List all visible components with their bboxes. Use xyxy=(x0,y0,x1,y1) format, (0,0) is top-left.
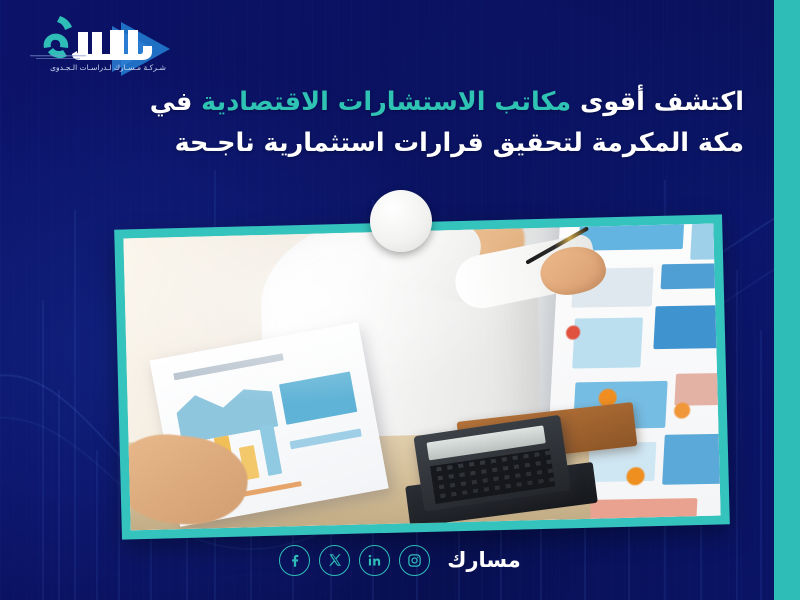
linkedin-icon xyxy=(367,553,382,568)
social-instagram-button[interactable] xyxy=(399,545,430,576)
headline: اكتشف أقوى مكاتب الاستشارات الاقتصادية ف… xyxy=(44,82,744,165)
instagram-icon xyxy=(407,553,422,568)
facebook-icon xyxy=(287,553,302,568)
headline-line1-before: اكتشف أقوى xyxy=(571,87,744,117)
social-facebook-button[interactable] xyxy=(279,545,310,576)
x-twitter-icon xyxy=(328,553,342,567)
headline-line2: مكة المكرمة لتحقيق قرارات استثمارية ناجـ… xyxy=(175,128,744,158)
brand-logo: شـركـة مـسـارك لـدراسـات الـجـدوى xyxy=(14,8,204,80)
headline-line1-after: في xyxy=(150,87,201,117)
social-linkedin-button[interactable] xyxy=(359,545,390,576)
photo-image xyxy=(123,224,720,531)
right-accent-bar xyxy=(774,0,800,600)
footer-brand-text: مسارك xyxy=(447,548,521,572)
poster-canvas: شـركـة مـسـارك لـدراسـات الـجـدوى اكتشف … xyxy=(0,0,800,600)
photo-frame-border xyxy=(114,214,730,539)
circle-badge xyxy=(370,190,432,252)
footer-bar: مسارك xyxy=(0,538,800,582)
headline-line1-highlight: مكاتب الاستشارات الاقتصادية xyxy=(201,87,571,117)
hero-photo xyxy=(114,214,730,539)
logo-tagline: شـركـة مـسـارك لـدراسـات الـجـدوى xyxy=(22,63,194,72)
social-x-button[interactable] xyxy=(319,545,350,576)
